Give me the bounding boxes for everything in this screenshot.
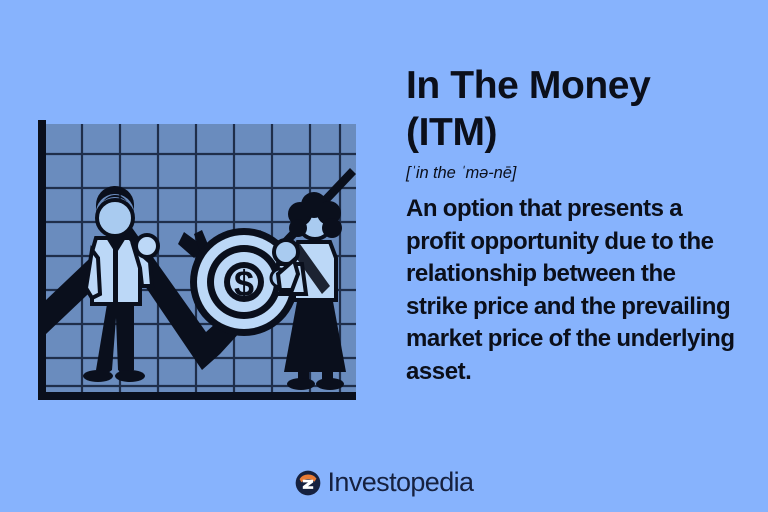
dollar-sign: $ — [234, 263, 254, 304]
illustration-svg: $ — [30, 118, 366, 403]
chart-x-axis — [38, 392, 356, 400]
definition-text: An option that presents a profit opportu… — [406, 193, 736, 388]
investopedia-logo-icon — [295, 470, 321, 496]
definition-card: $ — [0, 0, 768, 512]
chart-y-axis — [38, 120, 46, 400]
investopedia-wordmark: Investopedia — [328, 469, 474, 496]
phonetic-pronunciation: [ˈin the ˈmə-nē] — [406, 162, 736, 184]
page-title: In The Money (ITM) — [406, 62, 736, 156]
illustration: $ — [30, 118, 366, 403]
definition-text-block: In The Money (ITM) [ˈin the ˈmə-nē] An o… — [406, 62, 736, 388]
investopedia-logo[interactable]: Investopedia — [0, 469, 768, 496]
